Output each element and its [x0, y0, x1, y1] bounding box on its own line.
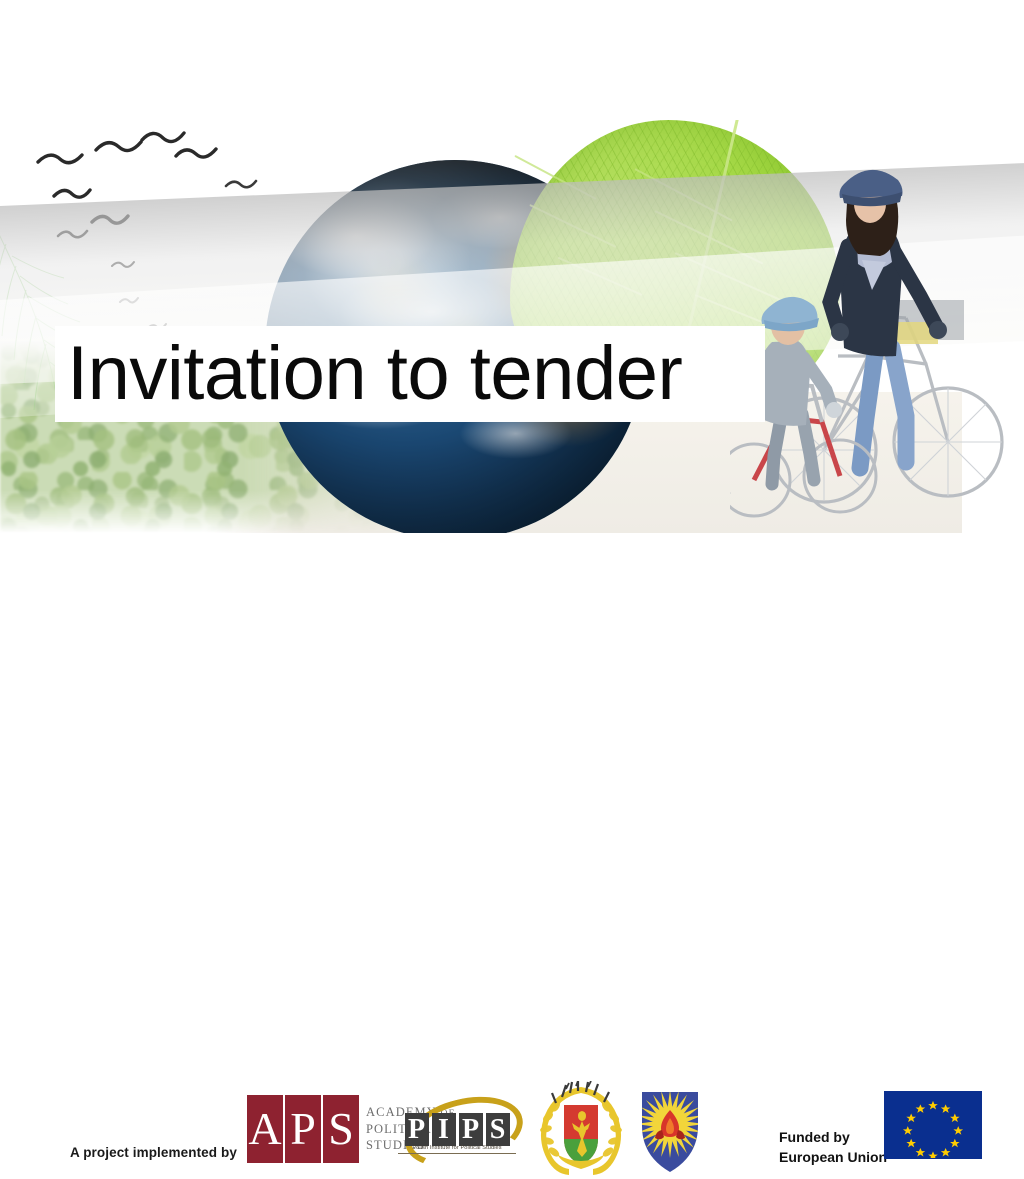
- funded-by-line2: European Union: [779, 1148, 887, 1168]
- aps-mark-a: A: [247, 1095, 283, 1163]
- aps-mark-p: P: [285, 1095, 321, 1163]
- funded-by-line1: Funded by: [779, 1128, 887, 1148]
- implemented-by-label: A project implemented by: [70, 1145, 237, 1160]
- pips-letter-p1: P: [405, 1113, 429, 1146]
- footer-logo-bar: A project implemented by A P S ACADEMY O…: [0, 533, 1024, 750]
- blue-shield-emblem: [638, 1086, 702, 1174]
- hero-banner: [0, 0, 1024, 533]
- pips-letter-p2: P: [459, 1113, 483, 1146]
- aps-letter-marks: A P S: [247, 1095, 359, 1163]
- pips-letter-i: I: [432, 1113, 456, 1146]
- pips-letters: P I P S: [398, 1113, 516, 1146]
- coat-of-arms-emblem: [532, 1081, 630, 1177]
- pips-logo: P I P S Polish Institute for Political S…: [398, 1099, 516, 1165]
- aps-logo: A P S ACADEMY OF POLITICAL STUDIES: [247, 1095, 380, 1163]
- cyclists-illustration: [730, 150, 1024, 533]
- shield-icon: [564, 1105, 598, 1165]
- funded-by-label: Funded by European Union: [779, 1128, 887, 1168]
- pips-subtitle: Polish Institute for Political Studies: [398, 1145, 516, 1154]
- pips-letter-s: S: [486, 1113, 510, 1146]
- european-union-flag: [884, 1091, 982, 1159]
- title-banner: Invitation to tender: [55, 326, 765, 422]
- page-title: Invitation to tender: [67, 336, 682, 412]
- aps-mark-s: S: [323, 1095, 359, 1163]
